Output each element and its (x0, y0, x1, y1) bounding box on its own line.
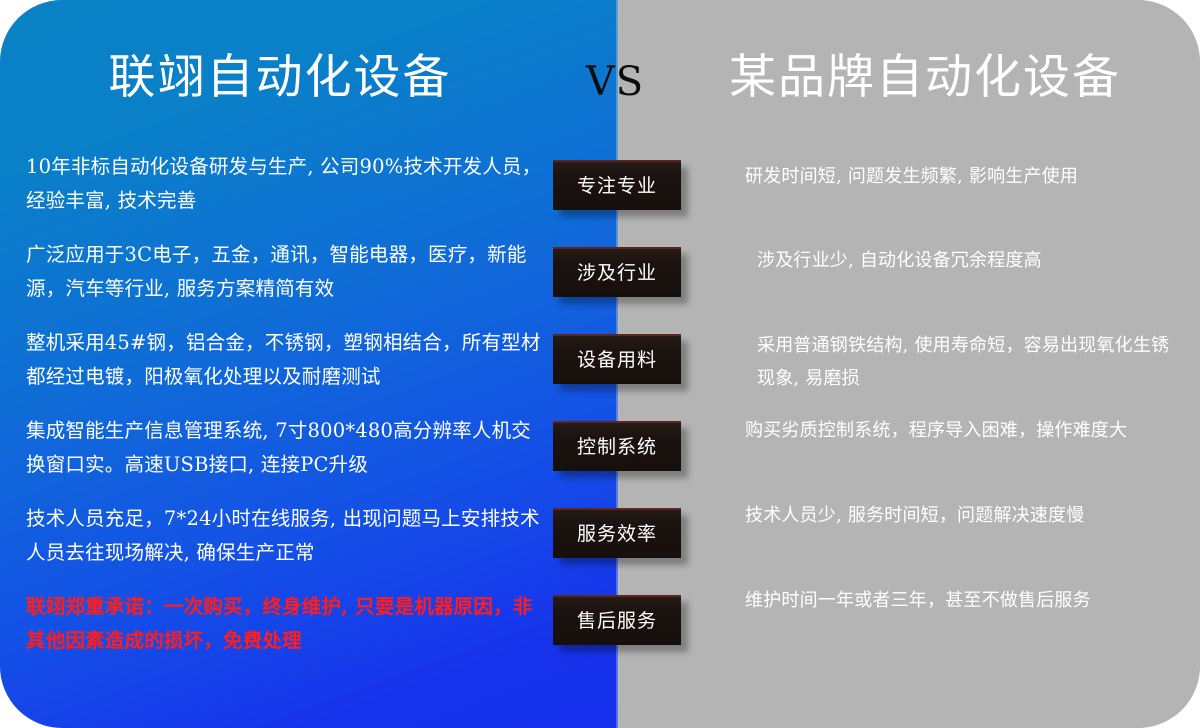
category-badge-label: 服务效率 (577, 511, 657, 557)
category-badge: 控制系统 (553, 421, 681, 471)
left-feature-item: 集成智能生产信息管理系统, 7寸800*480高分辨率人机交换窗口实。高速USB… (26, 414, 546, 482)
right-feature-item: 涉及行业少, 自动化设备冗余程度高 (745, 244, 1175, 329)
left-guarantee-statement: 联翊郑重承诺：一次购买，终身维护, 只要是机器原因，非其他因素造成的损坏，免费处… (26, 590, 546, 658)
category-badge-label: 设备用料 (577, 337, 657, 383)
category-badge-label: 售后服务 (577, 598, 657, 644)
right-brand-title: 某品牌自动化设备 (660, 50, 1190, 106)
left-feature-item: 广泛应用于3C电子，五金，通讯，智能电器，医疗，新能源，汽车等行业, 服务方案精… (26, 238, 546, 306)
left-feature-list: 10年非标自动化设备研发与生产, 公司90%技术开发人员，经验丰富, 技术完善 … (26, 150, 546, 678)
category-badge: 设备用料 (553, 334, 681, 384)
right-feature-item: 采用普通钢铁结构, 使用寿命短，容易出现氧化生锈现象, 易磨损 (745, 329, 1175, 414)
category-badge-label: 专注专业 (577, 163, 657, 209)
right-feature-list: 研发时间短, 问题发生频繁, 影响生产使用 涉及行业少, 自动化设备冗余程度高 … (745, 160, 1175, 644)
category-badge: 服务效率 (553, 508, 681, 558)
left-feature-item: 技术人员充足，7*24小时在线服务, 出现问题马上安排技术人员去往现场解决, 确… (26, 502, 546, 570)
right-feature-item: 维护时间一年或者三年，甚至不做售后服务 (745, 584, 1175, 644)
category-badge: 售后服务 (553, 595, 681, 645)
left-feature-item: 10年非标自动化设备研发与生产, 公司90%技术开发人员，经验丰富, 技术完善 (26, 150, 546, 218)
vs-label: VS (560, 57, 670, 107)
category-badge-label: 控制系统 (577, 424, 657, 470)
right-feature-item: 技术人员少, 服务时间短，问题解决速度慢 (745, 499, 1175, 584)
category-badge: 专注专业 (553, 160, 681, 210)
right-feature-item: 购买劣质控制系统，程序导入困难，操作难度大 (745, 414, 1175, 499)
category-badge: 涉及行业 (553, 247, 681, 297)
left-feature-item: 整机采用45#钢，铝合金，不锈钢，塑钢相结合，所有型材都经过电镀，阳极氧化处理以… (26, 326, 546, 394)
category-badge-list: 专注专业 涉及行业 设备用料 控制系统 服务效率 售后服务 (553, 160, 693, 682)
left-brand-title: 联翊自动化设备 (0, 50, 560, 106)
comparison-poster: 联翊自动化设备 VS 某品牌自动化设备 10年非标自动化设备研发与生产, 公司9… (0, 0, 1200, 728)
right-feature-item: 研发时间短, 问题发生频繁, 影响生产使用 (745, 160, 1175, 244)
category-badge-label: 涉及行业 (577, 250, 657, 296)
